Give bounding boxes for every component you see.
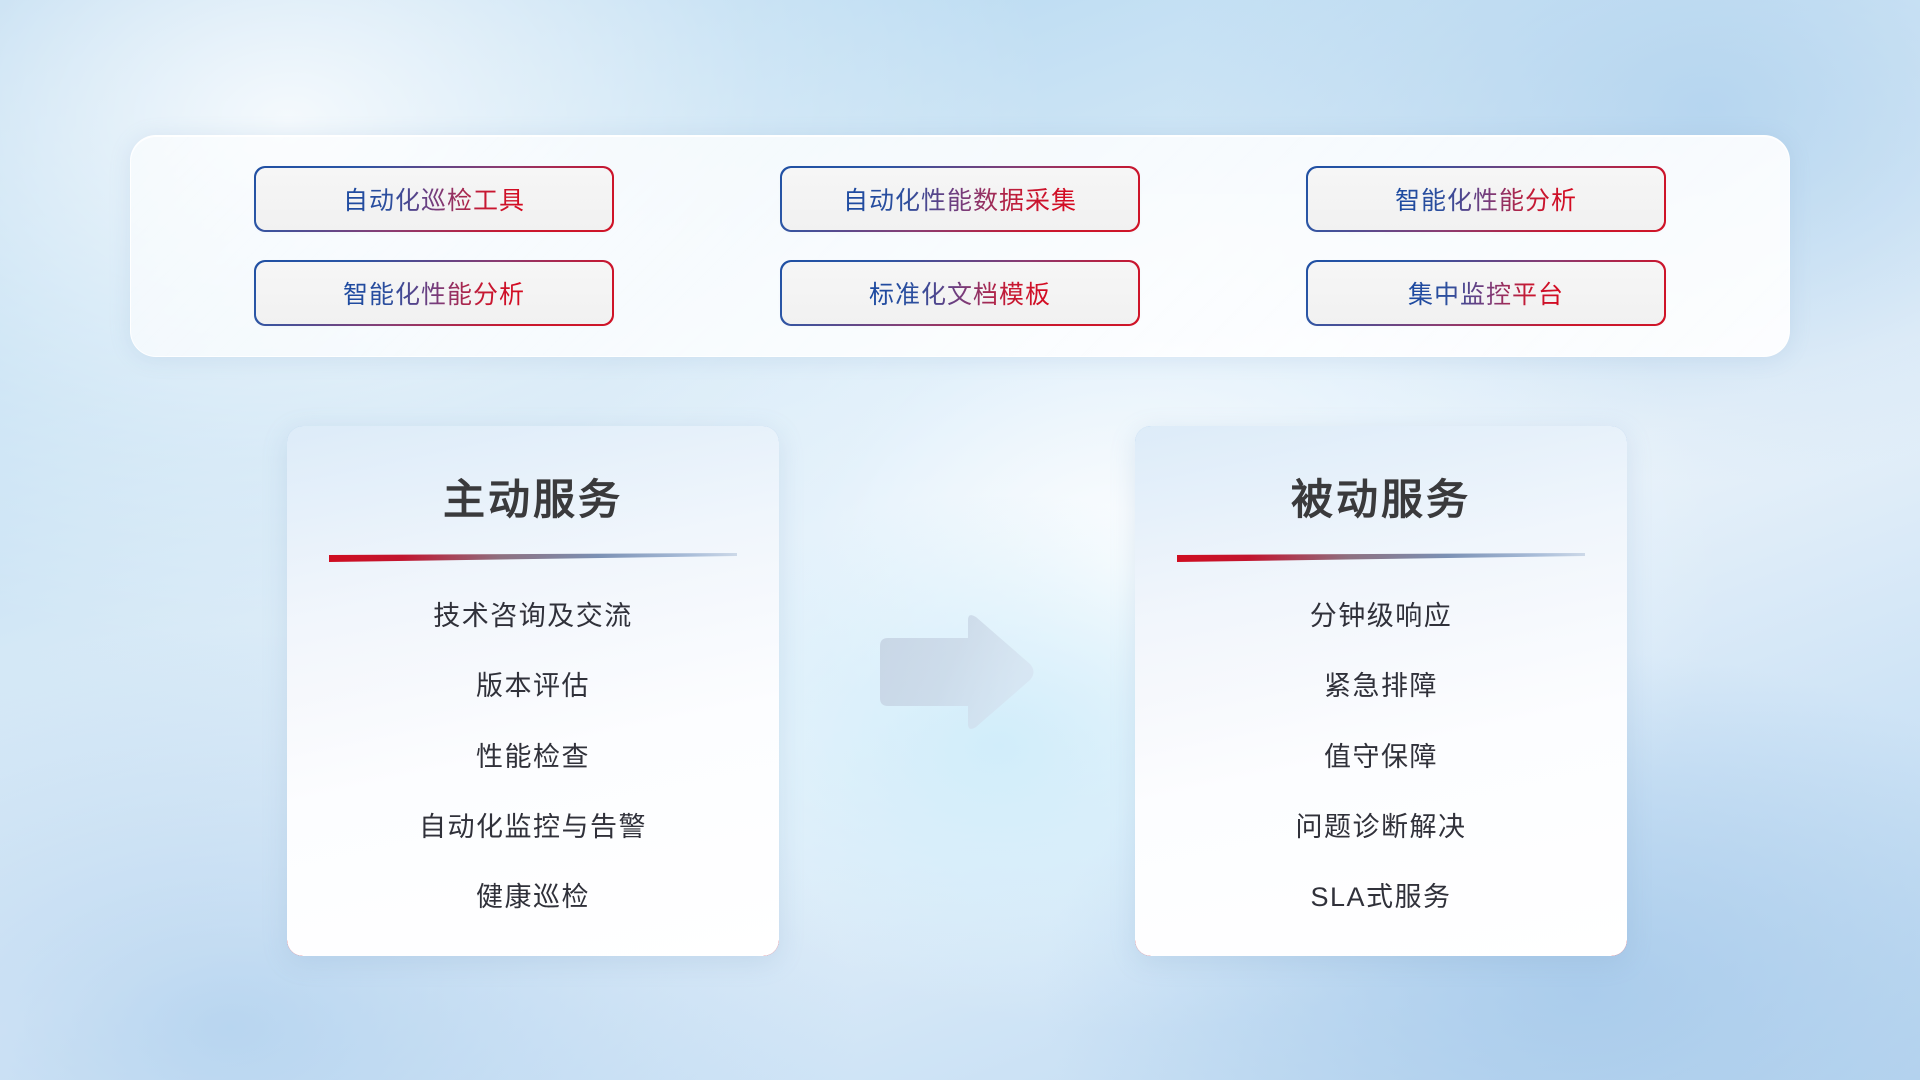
card-list-item[interactable]: 紧急排障 <box>1175 664 1587 703</box>
card-list-item[interactable]: 技术咨询及交流 <box>327 594 739 633</box>
card-list-item[interactable]: 自动化监控与告警 <box>327 805 739 844</box>
capability-tag-label: 智能化性能分析 <box>1395 181 1577 217</box>
capability-tag-label: 自动化巡检工具 <box>343 181 525 217</box>
capability-tag[interactable]: 智能化性能分析 <box>1308 168 1664 230</box>
capability-tag[interactable]: 标准化文档模板 <box>782 262 1138 324</box>
card-title-divider <box>1177 553 1585 564</box>
capabilities-panel: 自动化巡检工具 自动化性能数据采集 智能化性能分析 智能化性能分析 标准化文档模… <box>130 135 1790 357</box>
capability-tag[interactable]: 集中监控平台 <box>1308 262 1664 324</box>
card-item-list: 技术咨询及交流 版本评估 性能检查 自动化监控与告警 健康巡检 <box>327 594 739 930</box>
card-title: 主动服务 <box>327 466 739 527</box>
card-list-item[interactable]: 性能检查 <box>327 735 739 774</box>
card-list-item[interactable]: 版本评估 <box>327 664 739 703</box>
card-list-item[interactable]: 值守保障 <box>1175 735 1587 774</box>
card-body: 主动服务 技术咨询及交流 版本评估 性能检查 <box>287 426 779 956</box>
card-title: 被动服务 <box>1175 466 1587 527</box>
arrow-right-icon <box>872 612 1037 732</box>
card-list-item[interactable]: 健康巡检 <box>327 875 739 914</box>
card-title-divider <box>329 553 737 564</box>
capability-tag-grid: 自动化巡检工具 自动化性能数据采集 智能化性能分析 智能化性能分析 标准化文档模… <box>131 136 1789 356</box>
capability-tag[interactable]: 自动化性能数据采集 <box>782 168 1138 230</box>
capability-tag[interactable]: 自动化巡检工具 <box>256 168 612 230</box>
service-card-passive: 被动服务 分钟级响应 紧急排障 值守保障 <box>1135 426 1627 956</box>
card-list-item[interactable]: SLA式服务 <box>1175 875 1587 914</box>
capability-tag[interactable]: 智能化性能分析 <box>256 262 612 324</box>
card-body: 被动服务 分钟级响应 紧急排障 值守保障 <box>1135 426 1627 956</box>
capability-tag-label: 自动化性能数据采集 <box>843 181 1077 217</box>
card-list-item[interactable]: 分钟级响应 <box>1175 594 1587 633</box>
capability-tag-label: 标准化文档模板 <box>869 275 1051 311</box>
service-card-active: 主动服务 技术咨询及交流 版本评估 性能检查 <box>287 426 779 956</box>
capability-tag-label: 集中监控平台 <box>1408 275 1564 311</box>
card-item-list: 分钟级响应 紧急排障 值守保障 问题诊断解决 SLA式服务 <box>1175 594 1587 930</box>
capability-tag-label: 智能化性能分析 <box>343 275 525 311</box>
card-list-item[interactable]: 问题诊断解决 <box>1175 805 1587 844</box>
